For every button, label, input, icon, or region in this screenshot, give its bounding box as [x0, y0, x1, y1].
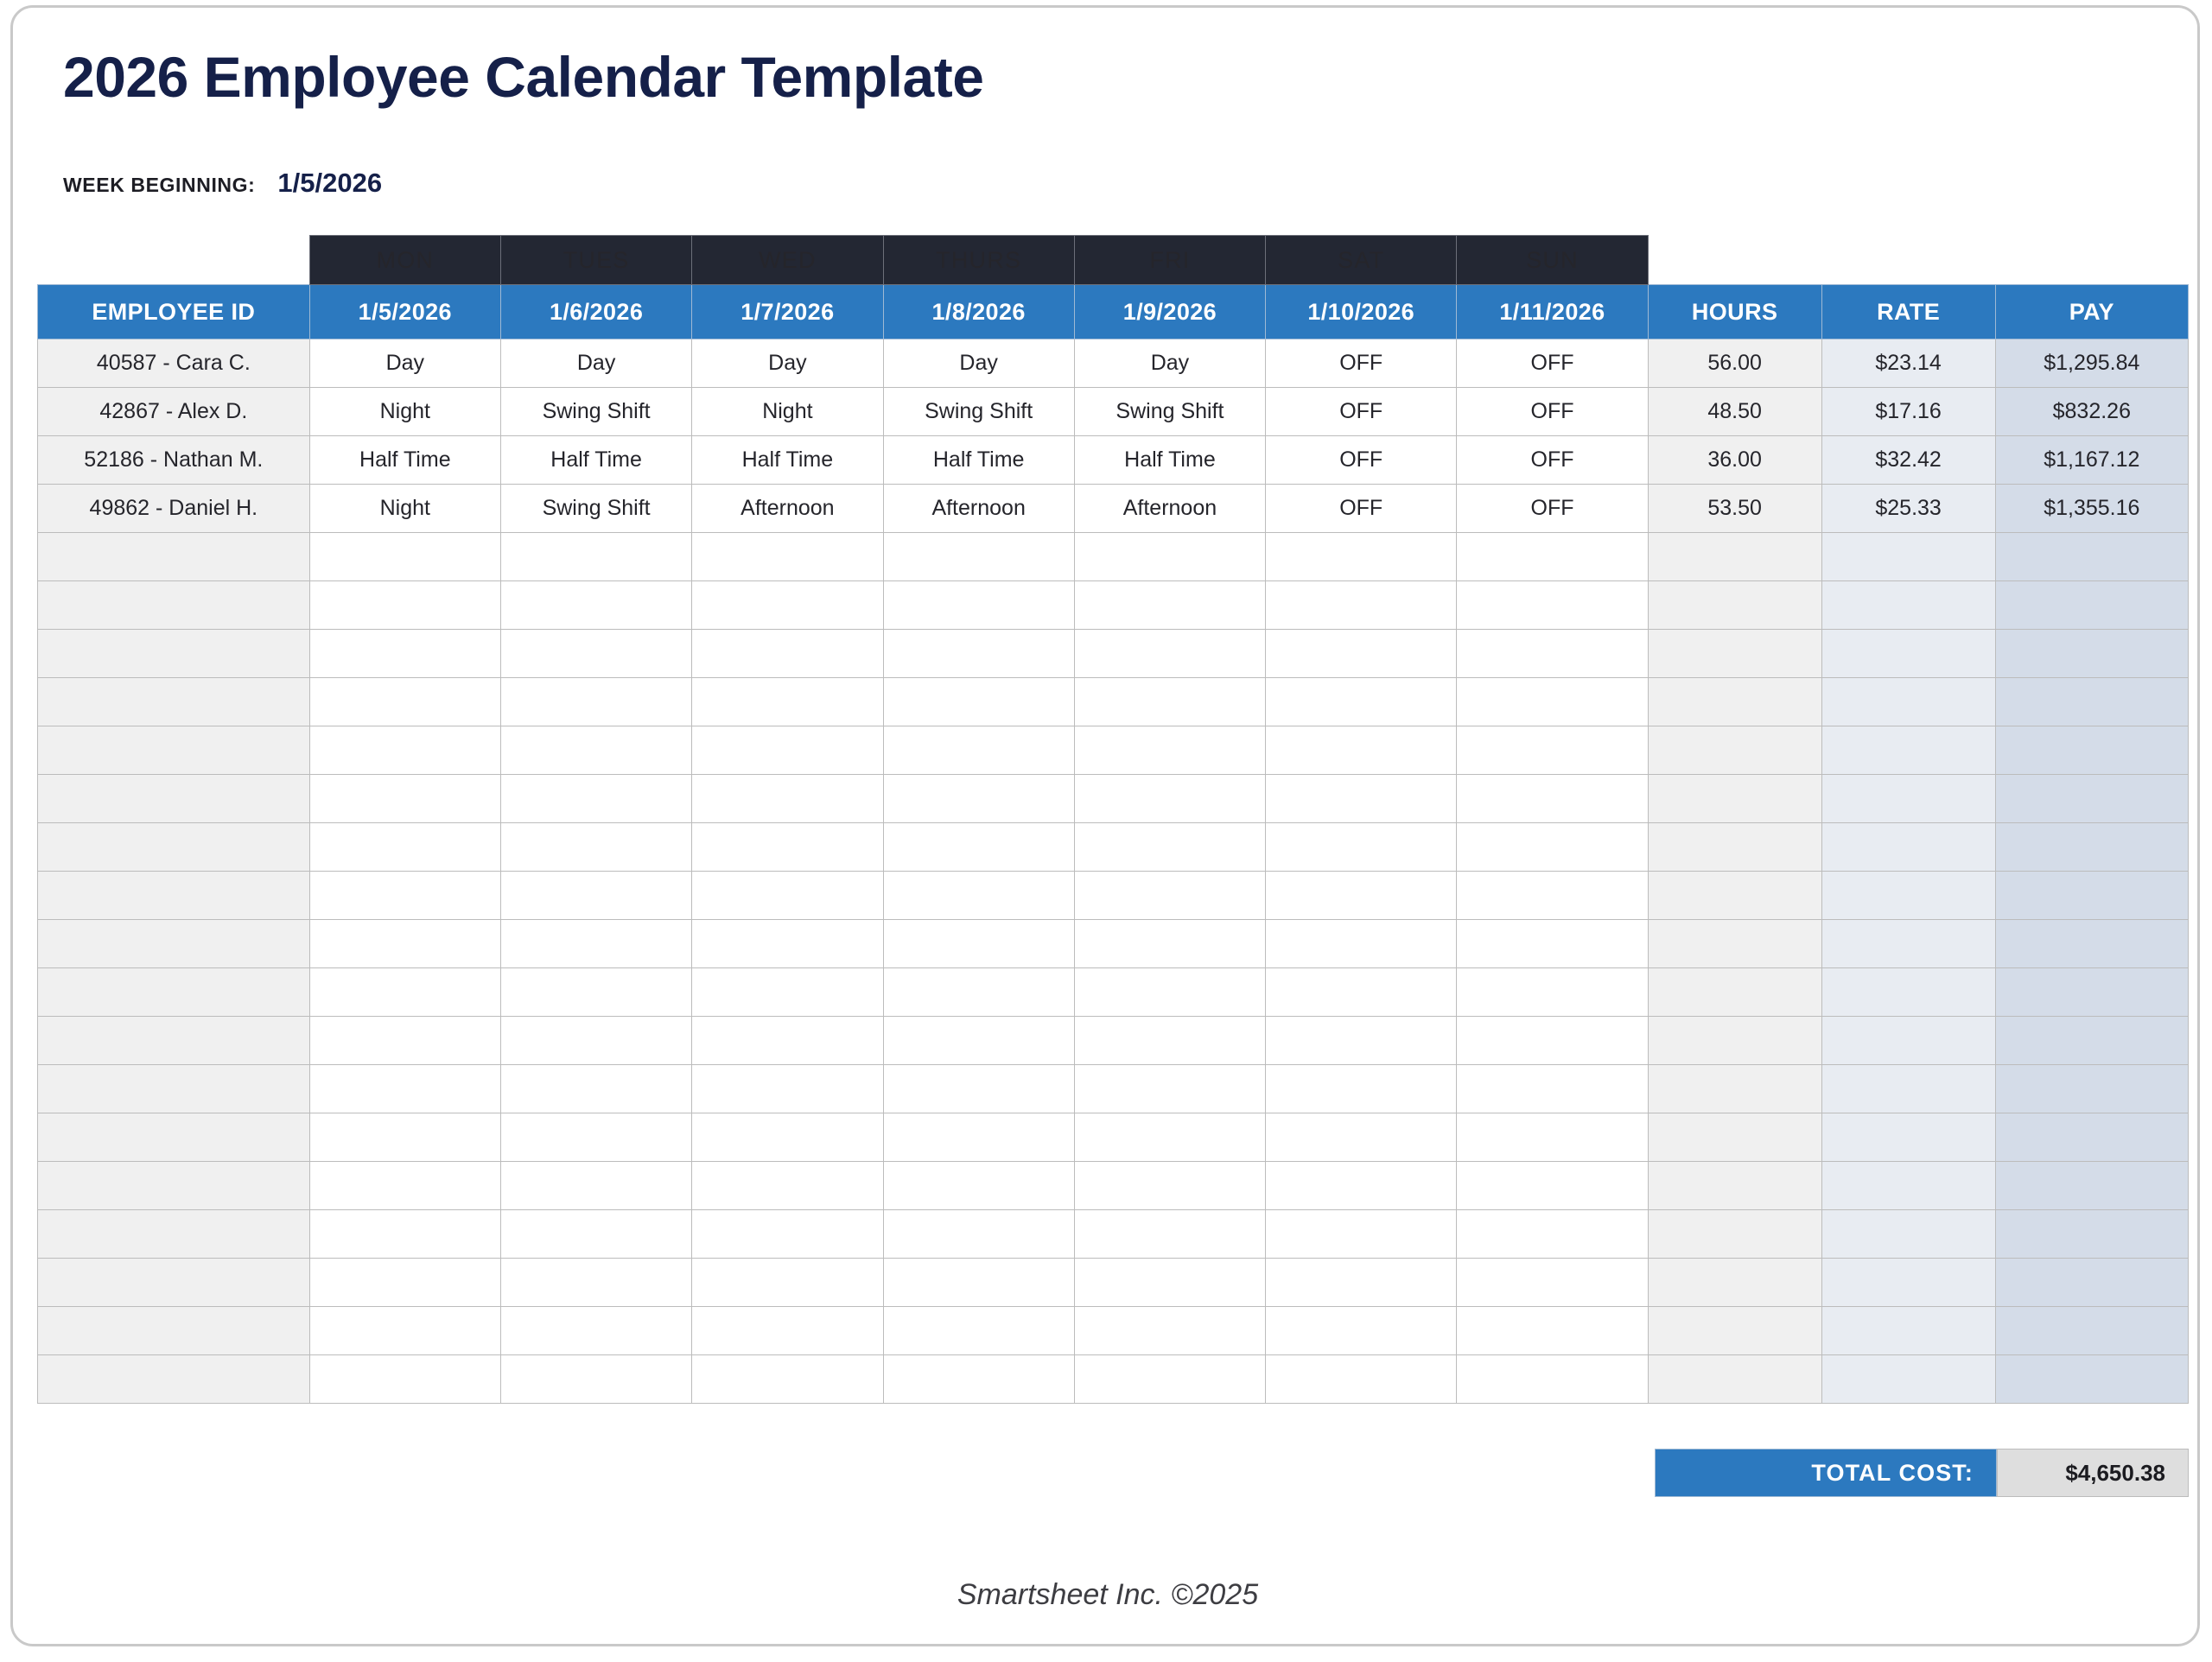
rate-cell[interactable] [1821, 1259, 1995, 1307]
shift-cell[interactable] [1074, 872, 1265, 920]
hours-cell: 56.00 [1648, 339, 1821, 388]
shift-cell[interactable] [1074, 1162, 1265, 1210]
day-name-header: TUES [500, 236, 691, 285]
shift-cell[interactable] [500, 968, 691, 1017]
shift-cell[interactable] [1457, 533, 1648, 581]
shift-cell[interactable] [692, 1162, 883, 1210]
page-title: 2026 Employee Calendar Template [63, 44, 983, 110]
shift-cell[interactable] [692, 872, 883, 920]
shift-cell[interactable]: Day [309, 339, 500, 388]
shift-cell[interactable] [692, 1017, 883, 1065]
shift-cell[interactable] [1457, 678, 1648, 726]
column-header: HOURS [1648, 285, 1821, 339]
shift-cell[interactable] [1457, 968, 1648, 1017]
pay-cell [1995, 1307, 2188, 1355]
hours-cell [1648, 1162, 1821, 1210]
column-header: 1/5/2026 [309, 285, 500, 339]
day-name-header: THURS [883, 236, 1074, 285]
footer-copyright: Smartsheet Inc. ©2025 [13, 1578, 2200, 1612]
table-row-empty[interactable] [38, 533, 2189, 581]
table-row-empty[interactable] [38, 581, 2189, 630]
shift-cell[interactable]: Day [883, 339, 1074, 388]
shift-cell[interactable] [1074, 726, 1265, 775]
table-row-empty[interactable] [38, 968, 2189, 1017]
hours-cell [1648, 968, 1821, 1017]
pay-cell: $1,355.16 [1995, 485, 2188, 533]
table-row-empty[interactable] [38, 872, 2189, 920]
shift-cell[interactable] [1074, 1355, 1265, 1404]
pay-cell [1995, 581, 2188, 630]
schedule-table: MONTUESWEDTHURSFRISATSUNEMPLOYEE ID1/5/2… [37, 235, 2189, 1404]
pay-cell: $1,295.84 [1995, 339, 2188, 388]
shift-cell[interactable] [309, 968, 500, 1017]
pay-cell: $832.26 [1995, 388, 2188, 436]
shift-cell[interactable] [500, 1307, 691, 1355]
pay-cell [1995, 533, 2188, 581]
shift-cell[interactable] [309, 920, 500, 968]
rate-cell[interactable] [1821, 1355, 1995, 1404]
shift-cell[interactable]: Night [692, 388, 883, 436]
table-row-empty[interactable] [38, 823, 2189, 872]
shift-cell[interactable] [883, 775, 1074, 823]
shift-cell[interactable] [1266, 775, 1457, 823]
shift-cell[interactable] [883, 968, 1074, 1017]
rate-cell[interactable]: $32.42 [1821, 436, 1995, 485]
shift-cell[interactable] [692, 1259, 883, 1307]
header-spacer [1821, 236, 1995, 285]
shift-cell[interactable] [883, 1065, 1074, 1113]
table-row-empty[interactable] [38, 775, 2189, 823]
rate-cell[interactable]: $25.33 [1821, 485, 1995, 533]
shift-cell[interactable] [1074, 581, 1265, 630]
shift-cell[interactable]: OFF [1457, 339, 1648, 388]
shift-cell[interactable] [883, 1355, 1074, 1404]
shift-cell[interactable] [1266, 726, 1457, 775]
table-row-empty[interactable] [38, 1307, 2189, 1355]
hours-cell [1648, 1210, 1821, 1259]
employee-id-cell[interactable] [38, 533, 310, 581]
employee-id-cell[interactable] [38, 726, 310, 775]
shift-cell[interactable] [1266, 823, 1457, 872]
hours-cell [1648, 726, 1821, 775]
shift-cell[interactable]: OFF [1266, 485, 1457, 533]
shift-cell[interactable] [883, 1210, 1074, 1259]
table-row[interactable]: 40587 - Cara C.DayDayDayDayDayOFFOFF56.0… [38, 339, 2189, 388]
shift-cell[interactable] [1266, 872, 1457, 920]
employee-id-cell[interactable] [38, 1017, 310, 1065]
employee-id-cell[interactable] [38, 581, 310, 630]
pay-cell [1995, 968, 2188, 1017]
pay-cell [1995, 872, 2188, 920]
employee-id-cell[interactable] [38, 1307, 310, 1355]
shift-cell[interactable] [1457, 775, 1648, 823]
rate-cell[interactable]: $17.16 [1821, 388, 1995, 436]
table-row[interactable]: 42867 - Alex D.NightSwing ShiftNightSwin… [38, 388, 2189, 436]
shift-cell[interactable] [692, 726, 883, 775]
shift-cell[interactable] [1457, 581, 1648, 630]
header-spacer [38, 236, 310, 285]
shift-cell[interactable] [500, 775, 691, 823]
shift-cell[interactable] [692, 678, 883, 726]
column-header: RATE [1821, 285, 1995, 339]
shift-cell[interactable] [883, 872, 1074, 920]
shift-cell[interactable] [500, 1113, 691, 1162]
shift-cell[interactable] [500, 920, 691, 968]
employee-id-cell[interactable] [38, 1162, 310, 1210]
shift-cell[interactable] [500, 581, 691, 630]
shift-cell[interactable] [1457, 726, 1648, 775]
shift-cell[interactable] [692, 775, 883, 823]
rate-cell[interactable] [1821, 533, 1995, 581]
shift-cell[interactable] [1266, 1307, 1457, 1355]
rate-cell[interactable] [1821, 630, 1995, 678]
table-row-empty[interactable] [38, 726, 2189, 775]
employee-id-cell[interactable] [38, 872, 310, 920]
hours-cell [1648, 630, 1821, 678]
shift-cell[interactable] [1457, 920, 1648, 968]
shift-cell[interactable] [1457, 630, 1648, 678]
shift-cell[interactable] [883, 726, 1074, 775]
employee-id-cell[interactable] [38, 1210, 310, 1259]
hours-cell [1648, 920, 1821, 968]
hours-cell [1648, 1355, 1821, 1404]
day-name-header: SUN [1457, 236, 1648, 285]
employee-id-cell[interactable] [38, 823, 310, 872]
employee-id-cell[interactable] [38, 630, 310, 678]
shift-cell[interactable] [883, 1259, 1074, 1307]
day-name-header: FRI [1074, 236, 1265, 285]
rate-cell[interactable] [1821, 823, 1995, 872]
employee-id-cell[interactable]: 40587 - Cara C. [38, 339, 310, 388]
shift-cell[interactable] [1074, 1259, 1265, 1307]
table-row-empty[interactable] [38, 1210, 2189, 1259]
shift-cell[interactable] [692, 581, 883, 630]
shift-cell[interactable] [1074, 920, 1265, 968]
column-header: 1/7/2026 [692, 285, 883, 339]
shift-cell[interactable]: OFF [1457, 388, 1648, 436]
shift-cell[interactable] [500, 872, 691, 920]
shift-cell[interactable] [1266, 1210, 1457, 1259]
table-row[interactable]: 49862 - Daniel H.NightSwing ShiftAfterno… [38, 485, 2189, 533]
pay-cell [1995, 1210, 2188, 1259]
shift-cell[interactable] [1074, 1307, 1265, 1355]
pay-cell [1995, 678, 2188, 726]
shift-cell[interactable]: Night [309, 485, 500, 533]
rate-cell[interactable] [1821, 1162, 1995, 1210]
rate-cell[interactable] [1821, 1113, 1995, 1162]
shift-cell[interactable] [1457, 1355, 1648, 1404]
shift-cell[interactable] [1074, 775, 1265, 823]
shift-cell[interactable] [1266, 920, 1457, 968]
shift-cell[interactable]: OFF [1266, 339, 1457, 388]
shift-cell[interactable] [883, 1113, 1074, 1162]
column-header: 1/10/2026 [1266, 285, 1457, 339]
shift-cell[interactable] [1266, 968, 1457, 1017]
hours-cell: 48.50 [1648, 388, 1821, 436]
rate-cell[interactable] [1821, 1210, 1995, 1259]
table-row[interactable]: 52186 - Nathan M.Half TimeHalf TimeHalf … [38, 436, 2189, 485]
pay-cell [1995, 920, 2188, 968]
shift-cell[interactable] [500, 678, 691, 726]
shift-cell[interactable] [1074, 533, 1265, 581]
shift-cell[interactable] [692, 1210, 883, 1259]
shift-cell[interactable] [309, 775, 500, 823]
rate-cell[interactable] [1821, 678, 1995, 726]
rate-cell[interactable]: $23.14 [1821, 339, 1995, 388]
shift-cell[interactable] [1457, 1210, 1648, 1259]
total-cost-label: TOTAL COST: [1655, 1449, 1997, 1497]
day-name-header: MON [309, 236, 500, 285]
shift-cell[interactable] [1074, 1113, 1265, 1162]
hours-cell [1648, 872, 1821, 920]
shift-cell[interactable] [1457, 1162, 1648, 1210]
shift-cell[interactable]: OFF [1266, 436, 1457, 485]
hours-cell [1648, 823, 1821, 872]
day-name-header: SAT [1266, 236, 1457, 285]
hours-cell [1648, 775, 1821, 823]
shift-cell[interactable] [500, 1355, 691, 1404]
hours-cell: 36.00 [1648, 436, 1821, 485]
shift-cell[interactable]: Swing Shift [500, 485, 691, 533]
shift-cell[interactable]: OFF [1266, 388, 1457, 436]
shift-cell[interactable] [1457, 1113, 1648, 1162]
shift-cell[interactable] [500, 1259, 691, 1307]
shift-cell[interactable] [500, 630, 691, 678]
employee-id-cell[interactable] [38, 1259, 310, 1307]
rate-cell[interactable] [1821, 775, 1995, 823]
pay-cell [1995, 1065, 2188, 1113]
shift-cell[interactable] [1266, 533, 1457, 581]
shift-cell[interactable] [309, 1259, 500, 1307]
shift-cell[interactable] [1266, 1065, 1457, 1113]
table-row-empty[interactable] [38, 678, 2189, 726]
shift-cell[interactable] [883, 1307, 1074, 1355]
shift-cell[interactable] [1457, 1307, 1648, 1355]
shift-cell[interactable] [692, 1113, 883, 1162]
rate-cell[interactable] [1821, 968, 1995, 1017]
shift-cell[interactable] [883, 581, 1074, 630]
hours-cell [1648, 678, 1821, 726]
shift-cell[interactable] [309, 1210, 500, 1259]
shift-cell[interactable]: Night [309, 388, 500, 436]
hours-cell: 53.50 [1648, 485, 1821, 533]
shift-cell[interactable]: OFF [1457, 436, 1648, 485]
shift-cell[interactable]: Half Time [309, 436, 500, 485]
shift-cell[interactable]: Afternoon [692, 485, 883, 533]
shift-cell[interactable]: Swing Shift [1074, 388, 1265, 436]
employee-id-cell[interactable] [38, 678, 310, 726]
header-spacer [1995, 236, 2188, 285]
shift-cell[interactable] [1074, 968, 1265, 1017]
employee-id-cell[interactable] [38, 968, 310, 1017]
shift-cell[interactable] [309, 726, 500, 775]
total-cost-value: $4,650.38 [1997, 1449, 2189, 1497]
shift-cell[interactable] [692, 1355, 883, 1404]
header-spacer [1648, 236, 1821, 285]
pay-cell [1995, 1259, 2188, 1307]
shift-cell[interactable] [309, 581, 500, 630]
shift-cell[interactable]: Afternoon [1074, 485, 1265, 533]
shift-cell[interactable]: OFF [1457, 485, 1648, 533]
shift-cell[interactable] [1266, 1113, 1457, 1162]
shift-cell[interactable]: Swing Shift [883, 388, 1074, 436]
hours-cell [1648, 533, 1821, 581]
table-row-empty[interactable] [38, 1162, 2189, 1210]
shift-cell[interactable] [692, 1065, 883, 1113]
shift-cell[interactable]: Afternoon [883, 485, 1074, 533]
shift-cell[interactable] [1074, 678, 1265, 726]
shift-cell[interactable] [692, 920, 883, 968]
shift-cell[interactable] [692, 533, 883, 581]
hours-cell [1648, 1307, 1821, 1355]
column-header: PAY [1995, 285, 2188, 339]
hours-cell [1648, 1259, 1821, 1307]
week-beginning-label: WEEK BEGINNING: [63, 174, 255, 197]
shift-cell[interactable] [500, 1162, 691, 1210]
shift-cell[interactable]: Half Time [692, 436, 883, 485]
shift-cell[interactable]: Half Time [1074, 436, 1265, 485]
week-beginning-row: WEEK BEGINNING: 1/5/2026 [63, 168, 382, 199]
hours-cell [1648, 1017, 1821, 1065]
shift-cell[interactable]: Half Time [500, 436, 691, 485]
shift-cell[interactable] [1266, 630, 1457, 678]
shift-cell[interactable] [309, 630, 500, 678]
employee-id-cell[interactable] [38, 1355, 310, 1404]
shift-cell[interactable] [1266, 581, 1457, 630]
employee-id-cell[interactable]: 49862 - Daniel H. [38, 485, 310, 533]
shift-cell[interactable] [692, 630, 883, 678]
shift-cell[interactable] [1074, 1017, 1265, 1065]
table-row-empty[interactable] [38, 1355, 2189, 1404]
rate-cell[interactable] [1821, 726, 1995, 775]
shift-cell[interactable]: Day [500, 339, 691, 388]
shift-cell[interactable] [692, 823, 883, 872]
shift-cell[interactable] [883, 823, 1074, 872]
shift-cell[interactable] [883, 1162, 1074, 1210]
shift-cell[interactable] [1457, 1017, 1648, 1065]
shift-cell[interactable] [883, 533, 1074, 581]
rate-cell[interactable] [1821, 581, 1995, 630]
total-cost-row: TOTAL COST: $4,650.38 [1655, 1449, 2189, 1497]
week-beginning-value[interactable]: 1/5/2026 [277, 168, 382, 199]
pay-cell [1995, 1017, 2188, 1065]
rate-cell[interactable] [1821, 1065, 1995, 1113]
shift-cell[interactable] [500, 726, 691, 775]
shift-cell[interactable] [1266, 1259, 1457, 1307]
shift-cell[interactable]: Swing Shift [500, 388, 691, 436]
rate-cell[interactable] [1821, 920, 1995, 968]
pay-cell [1995, 1355, 2188, 1404]
shift-cell[interactable] [1074, 1210, 1265, 1259]
shift-cell[interactable] [692, 1307, 883, 1355]
shift-cell[interactable] [1074, 823, 1265, 872]
pay-cell [1995, 823, 2188, 872]
shift-cell[interactable] [309, 1162, 500, 1210]
table-row-empty[interactable] [38, 1259, 2189, 1307]
rate-cell[interactable] [1821, 1307, 1995, 1355]
rate-cell[interactable] [1821, 872, 1995, 920]
shift-cell[interactable] [1266, 1017, 1457, 1065]
employee-id-cell[interactable] [38, 1065, 310, 1113]
shift-cell[interactable] [1457, 1065, 1648, 1113]
pay-cell [1995, 726, 2188, 775]
shift-cell[interactable] [883, 630, 1074, 678]
shift-cell[interactable] [500, 533, 691, 581]
shift-cell[interactable] [1074, 630, 1265, 678]
shift-cell[interactable] [500, 823, 691, 872]
column-header: 1/9/2026 [1074, 285, 1265, 339]
rate-cell[interactable] [1821, 1017, 1995, 1065]
pay-cell: $1,167.12 [1995, 436, 2188, 485]
shift-cell[interactable] [309, 1113, 500, 1162]
employee-id-cell[interactable] [38, 920, 310, 968]
table-row-empty[interactable] [38, 920, 2189, 968]
shift-cell[interactable] [1266, 678, 1457, 726]
shift-cell[interactable] [309, 872, 500, 920]
shift-cell[interactable]: Half Time [883, 436, 1074, 485]
shift-cell[interactable] [309, 823, 500, 872]
pay-cell [1995, 1162, 2188, 1210]
table-row-empty[interactable] [38, 1017, 2189, 1065]
shift-cell[interactable] [1457, 823, 1648, 872]
schedule-table-wrapper: MONTUESWEDTHURSFRISATSUNEMPLOYEE ID1/5/2… [37, 235, 2189, 1404]
page-card: 2026 Employee Calendar Template WEEK BEG… [10, 5, 2200, 1646]
column-header: 1/11/2026 [1457, 285, 1648, 339]
pay-cell [1995, 630, 2188, 678]
shift-cell[interactable] [1457, 1259, 1648, 1307]
shift-cell[interactable] [309, 533, 500, 581]
column-header: EMPLOYEE ID [38, 285, 310, 339]
shift-cell[interactable] [883, 678, 1074, 726]
employee-id-cell[interactable] [38, 1113, 310, 1162]
hours-cell [1648, 1113, 1821, 1162]
table-row-empty[interactable] [38, 1113, 2189, 1162]
shift-cell[interactable] [309, 1065, 500, 1113]
hours-cell [1648, 1065, 1821, 1113]
column-header: 1/6/2026 [500, 285, 691, 339]
shift-cell[interactable] [309, 1307, 500, 1355]
shift-cell[interactable] [500, 1065, 691, 1113]
day-name-header: WED [692, 236, 883, 285]
shift-cell[interactable] [500, 1210, 691, 1259]
shift-cell[interactable] [1074, 1065, 1265, 1113]
shift-cell[interactable] [1266, 1355, 1457, 1404]
shift-cell[interactable] [500, 1017, 691, 1065]
shift-cell[interactable]: Day [1074, 339, 1265, 388]
table-row-empty[interactable] [38, 630, 2189, 678]
employee-id-cell[interactable]: 42867 - Alex D. [38, 388, 310, 436]
column-header-row: EMPLOYEE ID1/5/20261/6/20261/7/20261/8/2… [38, 285, 2189, 339]
shift-cell[interactable]: Day [692, 339, 883, 388]
shift-cell[interactable] [309, 678, 500, 726]
day-name-header-row: MONTUESWEDTHURSFRISATSUN [38, 236, 2189, 285]
pay-cell [1995, 1113, 2188, 1162]
shift-cell[interactable] [1457, 872, 1648, 920]
shift-cell[interactable] [692, 968, 883, 1017]
shift-cell[interactable] [1266, 1162, 1457, 1210]
shift-cell[interactable] [883, 920, 1074, 968]
hours-cell [1648, 581, 1821, 630]
employee-id-cell[interactable]: 52186 - Nathan M. [38, 436, 310, 485]
shift-cell[interactable] [883, 1017, 1074, 1065]
employee-id-cell[interactable] [38, 775, 310, 823]
column-header: 1/8/2026 [883, 285, 1074, 339]
shift-cell[interactable] [309, 1017, 500, 1065]
pay-cell [1995, 775, 2188, 823]
shift-cell[interactable] [309, 1355, 500, 1404]
table-row-empty[interactable] [38, 1065, 2189, 1113]
